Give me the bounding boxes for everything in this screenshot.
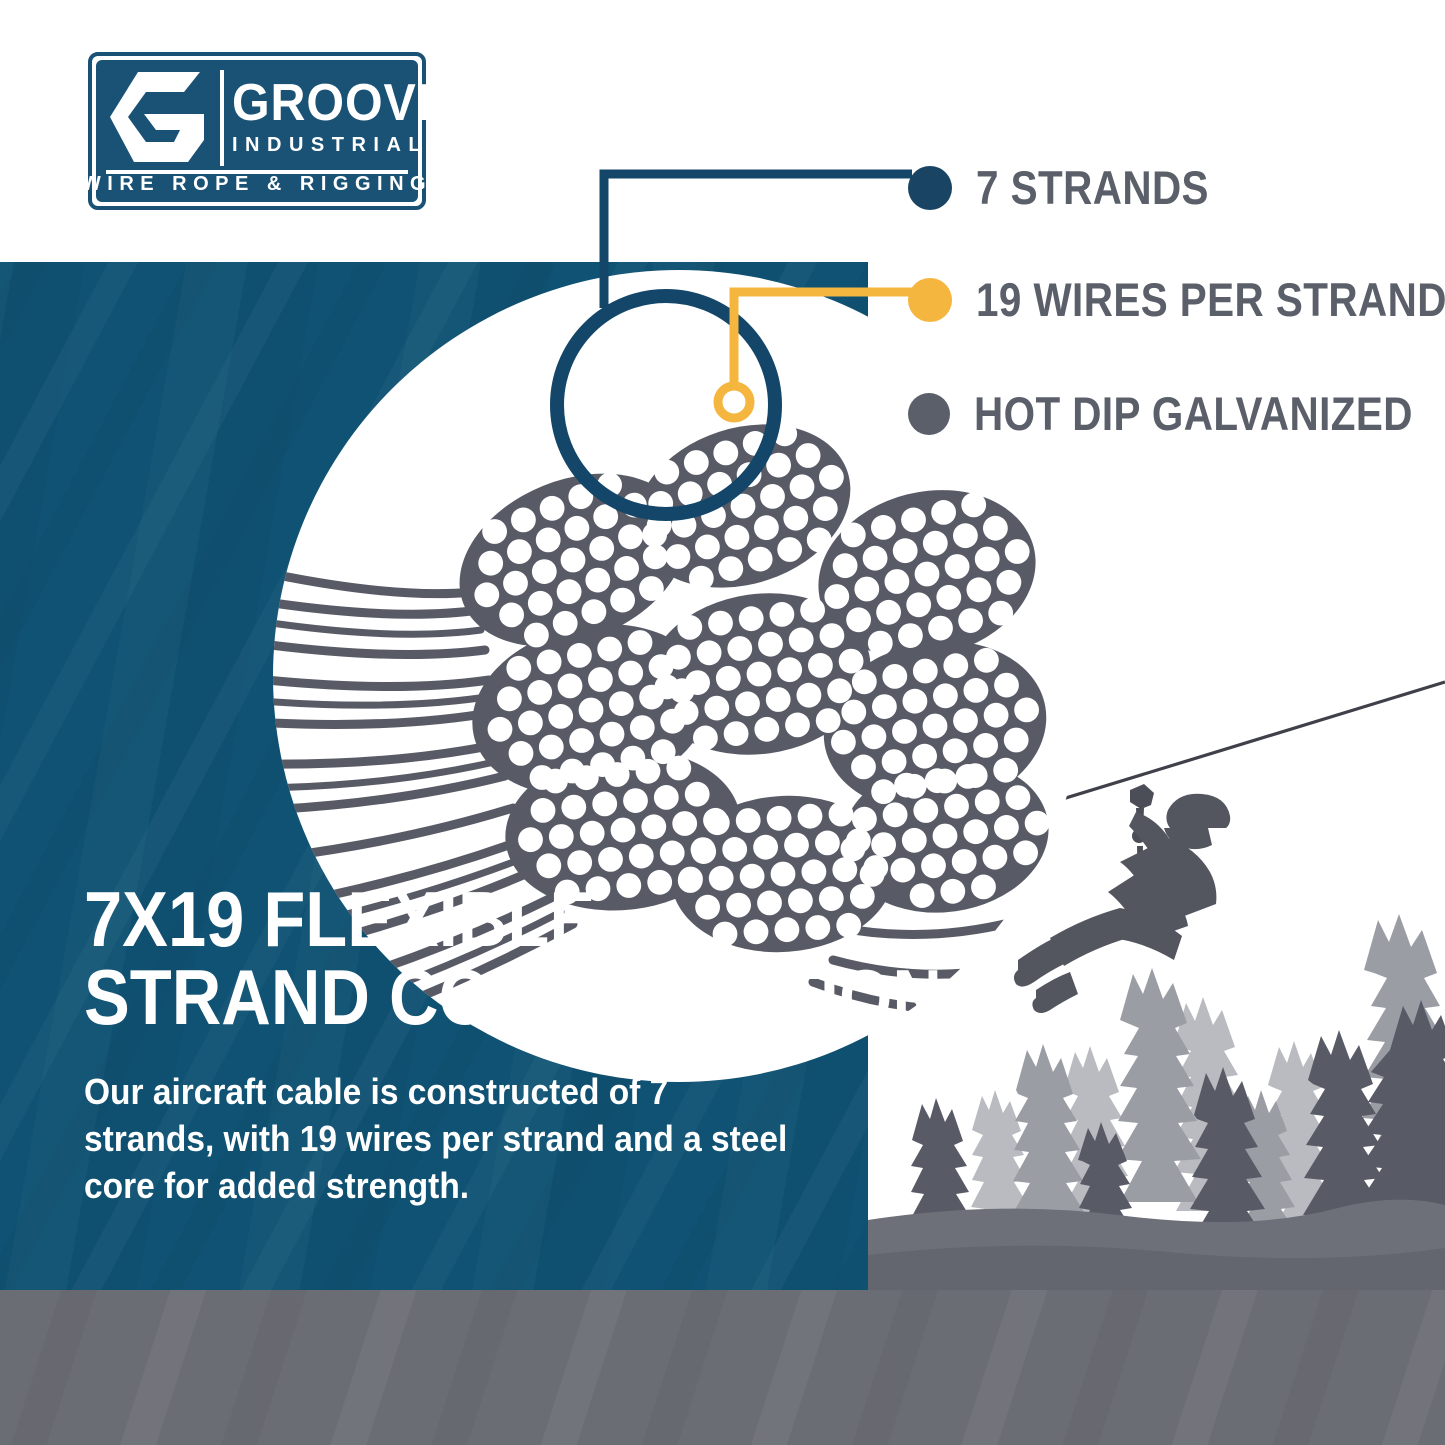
wire-circle [872,694,897,719]
wire-circle [767,806,792,831]
wire-circle [997,570,1022,595]
wire-circle [975,547,1000,572]
callout-label-19-wires: 19 WIRES PER STRAND [976,272,1445,327]
wire-circle [565,516,590,541]
wire-circle [777,537,802,562]
wire-circle [913,798,938,823]
wire-circle [901,508,926,533]
wire-circle [518,827,543,852]
wire-circle [971,875,996,900]
wire-circle [499,603,524,628]
wire-circle [958,608,983,633]
wire-circle [623,788,648,813]
wire-circle [641,814,666,839]
wire-circle [882,664,907,689]
wire-circle [739,606,764,631]
wire-circle [531,798,556,823]
wire-circle [863,546,888,571]
callout-19-wires[interactable]: 19 WIRES PER STRAND [908,272,1445,327]
wire-circle [964,678,989,703]
wire-circle [913,659,938,684]
wire-circle [537,650,562,675]
wire-circle [722,837,747,862]
wire-circle [833,553,858,578]
wire-circle [988,601,1013,626]
wire-circle [983,516,1008,541]
wire-circle [539,735,564,760]
wire-circle [597,637,622,662]
wire-circle [815,831,840,856]
wire-circle [736,808,761,833]
wire-circle [558,674,583,699]
wire-circle [511,508,536,533]
wire-circle [748,547,773,572]
logo-brand-sub: INDUSTRIAL [232,133,428,157]
wire-circle [783,506,808,531]
wire-circle [868,631,893,656]
wire-circle [963,819,988,844]
wire-circle [718,556,743,581]
wire-circle [902,828,927,853]
wire-circle [695,535,720,560]
bottom-bar-stripes [0,1290,1445,1445]
wire-circle [910,883,935,908]
wire-circle [474,582,499,607]
wire-circle [506,656,531,681]
wire-circle [630,715,655,740]
bottom-bar [0,1290,1445,1445]
wire-circle [915,562,940,587]
wire-circle [713,441,738,466]
wire-circle [549,824,574,849]
wire-circle [478,551,503,576]
wire-circle [852,807,877,832]
wire-circle [569,728,594,753]
wire-circle [727,636,752,661]
wire-circle [666,544,691,569]
wire-circle [705,810,730,835]
wire-circle [600,722,625,747]
wire-circle [931,500,956,525]
logo-wordmark: GROOVE INDUSTRIAL [232,68,408,166]
wire-circle [984,703,1009,728]
wire-circle [777,657,802,682]
wire-circle [813,496,838,521]
wire-circle [580,821,605,846]
wire-circle [527,680,552,705]
wire-circle [925,768,950,793]
wire-circle [852,669,877,694]
wire-circle [482,519,507,544]
wire-circle [854,577,879,602]
wire-circle [994,673,1019,698]
wire-circle [574,765,599,790]
wire-circle [967,577,992,602]
wire-circle [1005,539,1030,564]
wire-circle [994,815,1019,840]
wire-circle [923,714,948,739]
wire-circle [685,782,710,807]
wire-circle [1006,785,1031,810]
wire-circle [754,717,779,742]
logo-tagline-bar: WIRE ROPE & RIGGING [106,174,408,194]
wire-circle [654,460,679,485]
wire-circle [1014,698,1039,723]
wire-circle [851,755,876,780]
wire-circle [973,733,998,758]
wire-circle [655,675,680,700]
wire-circle [836,913,861,938]
wire-circle [610,588,635,613]
wire-circle [839,649,864,674]
wire-circle [903,689,928,714]
wire-circle [588,667,613,692]
wire-circle [758,632,783,657]
wire-circle [567,643,592,668]
wire-circle [509,741,534,766]
wire-circle [507,539,532,564]
wire-circle [807,528,832,553]
wire-circle [841,700,866,725]
wire-circle [605,762,630,787]
wire-circle [609,691,634,716]
wire-circle [912,744,937,769]
wire-circle [553,611,578,636]
wire-circle [876,600,901,625]
wire-circle [704,696,729,721]
wire-circle [846,607,871,632]
wire-circle [953,708,978,733]
wire-circle [766,687,791,712]
wire-circle [561,548,586,573]
wire-circle [598,847,623,872]
wire-circle [816,708,841,733]
wire-circle [921,853,946,878]
wire-circle [524,623,549,648]
wire-circle [871,832,896,857]
wire-circle [548,704,573,729]
wire-circle [735,691,760,716]
wire-circle [890,858,915,883]
wire-circle [579,698,604,723]
wire-circle [1004,728,1029,753]
wire-circle [666,756,691,781]
wire-circle [800,598,825,623]
wire-circle [561,795,586,820]
wire-circle [789,628,814,653]
wire-circle [892,719,917,744]
wire-circle [557,579,582,604]
wire-circle [666,645,691,670]
callout-hot-dip-galvanized[interactable]: HOT DIP GALVANIZED [908,386,1445,441]
wire-circle [654,785,679,810]
wire-circle [831,730,856,755]
wire-circle [536,528,561,553]
infographic-canvas: 7 STRANDS 19 WIRES PER STRAND HOT DIP GA… [0,0,1445,1445]
wire-circle [689,566,714,591]
wire-circle [618,661,643,686]
hero-title-line-2: STRAND CONSTRUCTION [84,958,735,1036]
wire-circle [589,536,614,561]
wire-circle [936,585,961,610]
wire-circle [618,524,643,549]
hero-text-block: 7X19 FLEXIBLE STRAND CONSTRUCTION Our ai… [84,880,824,1209]
brand-logo[interactable]: GROOVE INDUSTRIAL WIRE ROPE & RIGGING [88,52,426,210]
wire-circle [503,571,528,596]
wire-circle [614,556,639,581]
wire-circle [497,686,522,711]
wire-circle [1025,811,1050,836]
wire-circle [829,802,854,827]
wire-circle [798,804,823,829]
wire-circle [784,833,809,858]
wire-circle [629,844,654,869]
wire-circle [860,862,885,887]
wire-circle [975,790,1000,815]
wire-circle [974,648,999,673]
wire-circle [636,759,661,784]
wire-circle [898,623,923,648]
wire-circle [993,758,1018,783]
wire-circle [945,554,970,579]
wire-circle [697,640,722,665]
wire-circle [747,662,772,687]
wire-circle [567,850,592,875]
wire-circle [933,824,958,849]
wire-circle [943,653,968,678]
logo-tagline: WIRE ROPE & RIGGING [82,173,432,196]
wire-circle [952,849,977,874]
wire-circle [796,443,821,468]
callout-dot-navy [908,166,952,210]
wire-circle [753,835,778,860]
wire-circle [862,724,887,749]
hero-description: Our aircraft cable is constructed of 7 s… [84,1068,791,1209]
logo-brand-name: GROOVE [232,77,450,129]
wire-circle [893,538,918,563]
wire-circle [754,515,779,540]
wire-circle [672,811,697,836]
wire-circle [885,569,910,594]
wire-circle [923,531,948,556]
callout-label-hot-dip-galvanized: HOT DIP GALVANIZED [974,386,1413,441]
wire-circle [841,837,866,862]
wire-circle [953,523,978,548]
wire-circle [850,884,875,909]
wire-circle [1013,840,1038,865]
wire-circle [824,584,849,609]
wire-circle [716,666,741,691]
wire-circle [691,839,716,864]
wire-circle [871,515,896,540]
wire-circle [944,794,969,819]
wire-circle [906,592,931,617]
wire-circle [820,623,845,648]
wire-circle [933,683,958,708]
logo-divider [220,70,224,166]
wire-circle [582,599,607,624]
hero-title-line-1: 7X19 FLEXIBLE [84,880,735,958]
g-monogram-icon [104,68,214,166]
wire-circle [684,450,709,475]
wire-circle [770,602,795,627]
wire-circle [724,721,749,746]
wire-circle [808,653,833,678]
wire-circle [660,841,685,866]
wire-circle [983,845,1008,870]
wire-circle [882,749,907,774]
wire-circle [693,726,718,751]
wire-circle [543,769,568,794]
wire-circle [642,522,667,547]
wire-circle [685,670,710,695]
wire-circle [819,465,844,490]
wire-circle [956,764,981,789]
wire-circle [928,616,953,641]
wire-circle [790,474,815,499]
wire-circle [785,713,810,738]
callout-dot-gray [908,393,950,435]
wire-circle [639,576,664,601]
wire-circle [883,802,908,827]
wire-circle [674,700,699,725]
wire-circle [528,591,553,616]
wire-circle [943,738,968,763]
wire-circle [760,484,785,509]
wire-circle [677,615,702,640]
callout-label-7-strands: 7 STRANDS [976,160,1209,215]
wire-circle [871,779,896,804]
wire-circle [488,717,513,742]
wire-circle [894,773,919,798]
wire-circle [585,568,610,593]
wire-circle [518,711,543,736]
wire-circle [961,493,986,518]
wire-circle [628,630,653,655]
wire-circle [708,611,733,636]
callout-dot-amber [908,278,952,322]
wire-circle [592,792,617,817]
wire-circle [940,879,965,904]
logo-inner-plate: GROOVE INDUSTRIAL WIRE ROPE & RIGGING [96,60,418,202]
wire-circle [611,818,636,843]
wire-circle [540,496,565,521]
callout-7-strands[interactable]: 7 STRANDS [908,160,1247,215]
logo-g-mark [104,68,214,166]
wire-circle [841,523,866,548]
wire-circle [725,525,750,550]
wire-circle [643,544,668,569]
wire-circle [827,678,852,703]
wire-circle [797,683,822,708]
wire-circle [532,559,557,584]
